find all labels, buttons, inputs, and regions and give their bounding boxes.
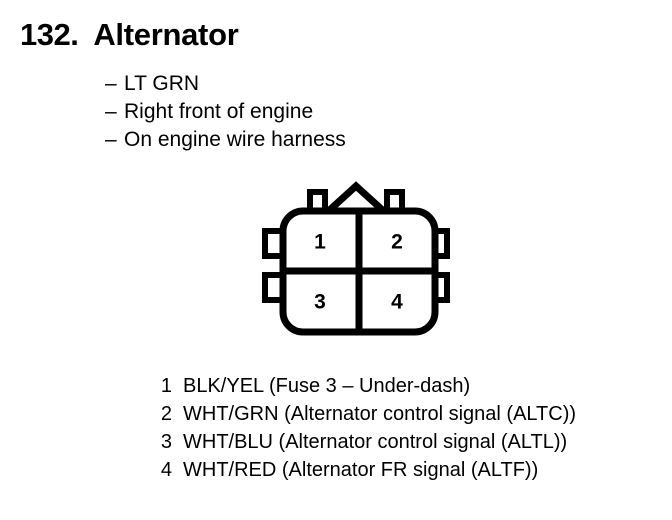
legend-pin-number: 4 xyxy=(158,456,172,484)
legend-pin-number: 3 xyxy=(158,428,172,456)
legend-pin-number: 1 xyxy=(158,372,172,400)
connector-svg: 1 2 3 4 xyxy=(258,175,468,345)
description-list: – LT GRN – Right front of engine – On en… xyxy=(105,70,346,154)
legend-pin-description: WHT/RED (Alternator FR signal (ALTF)) xyxy=(183,456,538,484)
list-item: 3 WHT/BLU (Alternator control signal (AL… xyxy=(158,428,576,456)
connector-pin-4-label: 4 xyxy=(391,291,403,314)
list-item-label: Right front of engine xyxy=(124,98,313,126)
list-item: – Right front of engine xyxy=(105,98,346,126)
dash-bullet-icon: – xyxy=(105,98,122,126)
dash-bullet-icon: – xyxy=(105,70,122,98)
list-item: 1 BLK/YEL (Fuse 3 – Under-dash) xyxy=(158,372,576,400)
page-title: 132. Alternator xyxy=(20,17,238,53)
list-item: – On engine wire harness xyxy=(105,126,346,154)
connector-diagram: 1 2 3 4 xyxy=(258,175,468,345)
page-title-text: Alternator xyxy=(93,17,238,53)
connector-side-tab-left-upper-icon xyxy=(265,231,280,256)
legend-pin-description: BLK/YEL (Fuse 3 – Under-dash) xyxy=(183,372,470,400)
legend-pin-description: WHT/GRN (Alternator control signal (ALTC… xyxy=(183,400,576,428)
list-item: 2 WHT/GRN (Alternator control signal (AL… xyxy=(158,400,576,428)
list-item-label: LT GRN xyxy=(124,70,199,98)
legend-pin-description: WHT/BLU (Alternator control signal (ALTL… xyxy=(183,428,567,456)
list-item: 4 WHT/RED (Alternator FR signal (ALTF)) xyxy=(158,456,576,484)
list-item: – LT GRN xyxy=(105,70,346,98)
connector-pin-1-label: 1 xyxy=(314,231,326,254)
connector-pin-2-label: 2 xyxy=(391,231,403,254)
connector-side-tab-left-lower-icon xyxy=(265,275,280,300)
pin-legend: 1 BLK/YEL (Fuse 3 – Under-dash) 2 WHT/GR… xyxy=(158,372,576,484)
page-title-number: 132. xyxy=(20,17,78,53)
connector-pin-3-label: 3 xyxy=(314,291,326,314)
legend-pin-number: 2 xyxy=(158,400,172,428)
list-item-label: On engine wire harness xyxy=(124,126,346,154)
dash-bullet-icon: – xyxy=(105,126,122,154)
